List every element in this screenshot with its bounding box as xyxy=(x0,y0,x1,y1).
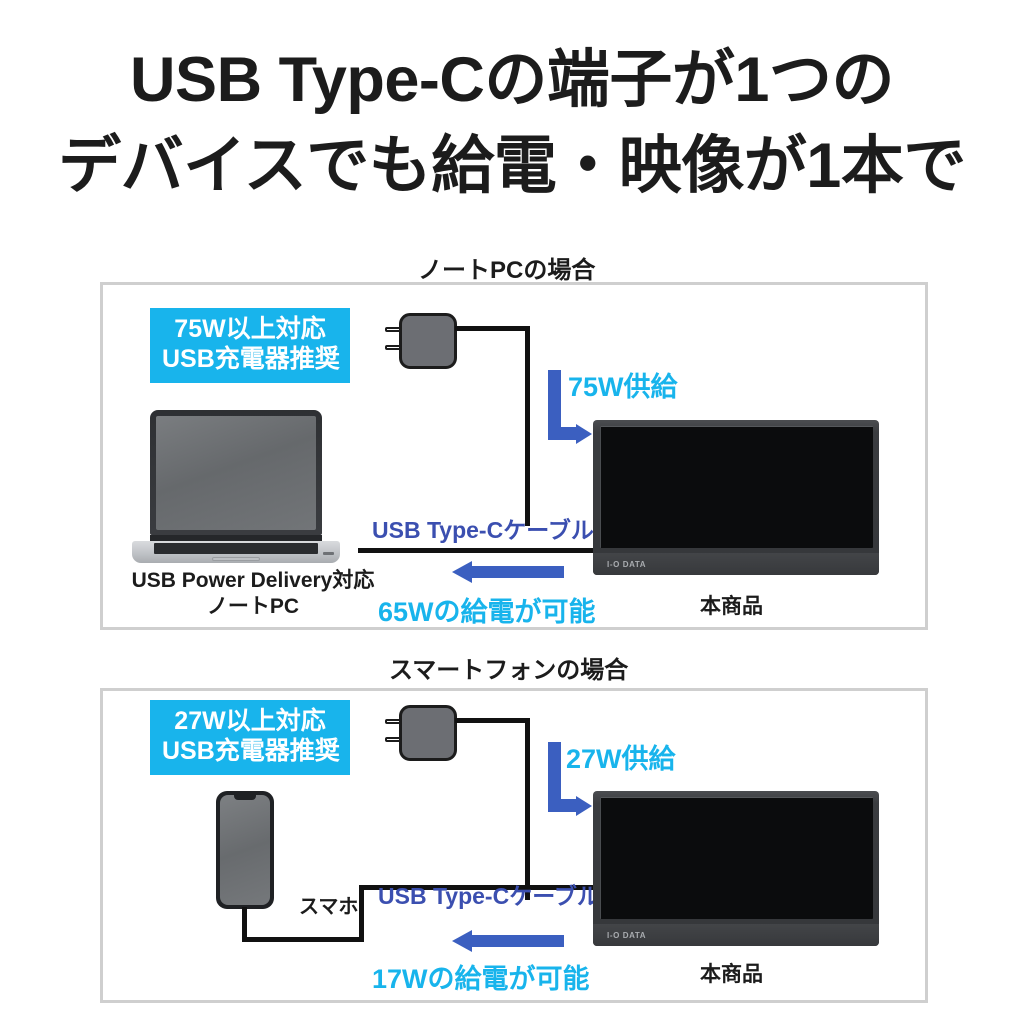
cable-label-laptop: USB Type-Cケーブル xyxy=(372,511,594,545)
cable-adapter-vertical xyxy=(525,326,530,526)
smartphone-icon xyxy=(216,791,274,909)
cable-adapter-horizontal xyxy=(455,326,530,331)
phone-screen xyxy=(220,795,270,905)
arrow-shaft xyxy=(470,566,564,578)
device-label-laptop-line2: ノートPC xyxy=(108,594,398,620)
monitor-chin: I-O DATA xyxy=(593,924,879,946)
monitor-display xyxy=(600,797,873,919)
arrow-head xyxy=(452,930,472,952)
monitor-chin: I-O DATA xyxy=(593,553,879,575)
arrow-foot xyxy=(548,799,576,812)
arrow-left-icon-laptop xyxy=(452,566,564,578)
badge-line-2: USB充電器推奨 xyxy=(162,737,338,767)
supply-label-laptop: 75W供給 xyxy=(568,365,678,404)
badge-charger-requirement-laptop: 75W以上対応 USB充電器推奨 xyxy=(150,308,350,383)
adapter-body xyxy=(399,313,457,369)
monitor-icon-phone: I-O DATA xyxy=(593,791,879,946)
adapter-body xyxy=(399,705,457,761)
arrow-shaft xyxy=(470,935,564,947)
arrow-head xyxy=(576,424,592,444)
section-caption-laptop: ノートPCの場合 xyxy=(418,250,595,285)
iodata-logo: I-O DATA xyxy=(607,931,646,940)
phone-frame xyxy=(216,791,274,909)
arrow-head xyxy=(452,561,472,583)
badge-line-2: USB充電器推奨 xyxy=(162,345,338,375)
cable-phone-bottom xyxy=(242,937,364,942)
laptop-usb-c-port xyxy=(323,552,334,555)
monitor-display xyxy=(600,426,873,548)
laptop-icon xyxy=(132,410,340,565)
laptop-lid xyxy=(150,410,322,535)
product-label-laptop: 本商品 xyxy=(700,590,763,620)
monitor-shell xyxy=(593,420,879,575)
device-label-laptop-line1: USB Power Delivery対応 xyxy=(108,568,398,594)
badge-line-1: 75W以上対応 xyxy=(162,315,338,345)
arrow-left-icon-phone xyxy=(452,935,564,947)
arrow-foot xyxy=(548,427,576,440)
iodata-logo: I-O DATA xyxy=(607,560,646,569)
power-adapter-icon-phone xyxy=(385,705,457,761)
power-adapter-icon xyxy=(385,313,457,369)
device-label-phone: スマホ xyxy=(299,890,358,919)
badge-charger-requirement-phone: 27W以上対応 USB充電器推奨 xyxy=(150,700,350,775)
cable-usbc-laptop xyxy=(358,548,606,553)
power-label-laptop: 65Wの給電が可能 xyxy=(378,590,596,629)
laptop-trackpad xyxy=(212,557,260,561)
phone-notch xyxy=(234,795,256,800)
arrow-head xyxy=(576,796,592,816)
monitor-shell xyxy=(593,791,879,946)
cable-adapter-vertical-phone xyxy=(525,718,530,900)
title-line-2: デバイスでも給電・映像が1本で xyxy=(0,124,1024,210)
device-label-laptop: USB Power Delivery対応 ノートPC xyxy=(108,568,398,621)
cable-adapter-horizontal-phone xyxy=(455,718,530,723)
section-caption-phone: スマートフォンの場合 xyxy=(389,650,628,685)
laptop-keyboard xyxy=(154,543,318,554)
laptop-screen xyxy=(156,416,316,530)
badge-line-1: 27W以上対応 xyxy=(162,707,338,737)
supply-label-phone: 27W供給 xyxy=(566,737,676,776)
power-label-phone: 17Wの給電が可能 xyxy=(372,957,590,996)
infographic-page: USB Type-Cの端子が1つの デバイスでも給電・映像が1本で ノートPCの… xyxy=(0,0,1024,1024)
cable-phone-riser xyxy=(359,885,364,942)
page-title: USB Type-Cの端子が1つの デバイスでも給電・映像が1本で xyxy=(0,38,1024,209)
product-label-phone: 本商品 xyxy=(700,958,763,988)
monitor-icon-laptop: I-O DATA xyxy=(593,420,879,575)
cable-label-phone: USB Type-Cケーブル xyxy=(378,877,600,911)
title-line-1: USB Type-Cの端子が1つの xyxy=(0,38,1024,124)
